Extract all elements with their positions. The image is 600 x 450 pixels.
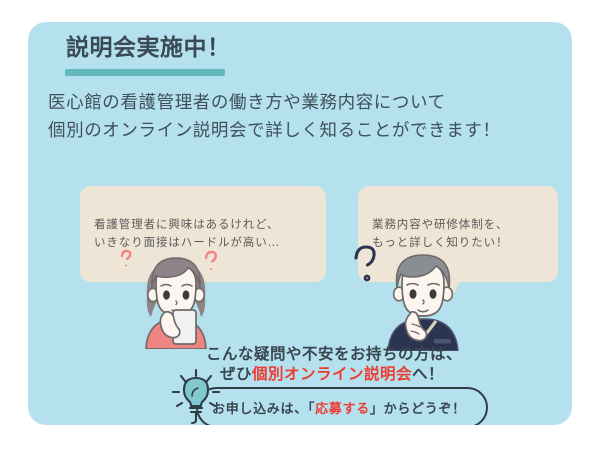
page-title: 説明会実施中！	[48, 37, 231, 60]
heading-block: 説明会実施中！	[48, 37, 231, 60]
cta-line-2-prefix: ぜひ	[220, 365, 252, 383]
cta-line-2: ぜひ個別オンライン説明会へ！	[178, 364, 538, 384]
cta-line-2-suffix: へ！	[412, 365, 444, 383]
pocket	[434, 339, 451, 344]
apply-suffix: 」からどうぞ！	[370, 402, 466, 417]
cta-line-1: こんな疑問や不安をお持ちの方は、	[178, 344, 538, 364]
eye-right	[183, 290, 190, 299]
poster-canvas: 説明会実施中！ 医心館の看護管理者の働き方や業務内容について 個別のオンライン説…	[0, 0, 600, 450]
apply-instruction-text: お申し込みは、「応募する」からどうぞ！	[212, 398, 466, 417]
illustration-thinking-woman	[116, 244, 236, 353]
cta-block: こんな疑問や不安をお持ちの方は、 ぜひ個別オンライン説明会へ！ お申し込みは、「…	[178, 344, 538, 385]
eye-left	[410, 289, 417, 299]
announcement-card: 説明会実施中！ 医心館の看護管理者の働き方や業務内容について 個別のオンライン説…	[28, 22, 572, 425]
question-mark-icon	[356, 247, 374, 280]
bulb-glass	[184, 378, 208, 406]
heading-underline	[65, 69, 225, 76]
lightbulb-icon	[168, 366, 224, 425]
illustration-thinking-man	[348, 236, 483, 355]
cta-line-2-highlight: 個別オンライン説明会	[252, 365, 412, 383]
lead-copy: 医心館の看護管理者の働き方や業務内容について 個別のオンライン説明会で詳しく知る…	[48, 90, 501, 145]
apply-button-label[interactable]: 応募する	[315, 402, 370, 417]
eye-left	[163, 290, 170, 299]
apply-prefix: お申し込みは、「	[212, 402, 315, 417]
eye-right	[430, 289, 437, 299]
